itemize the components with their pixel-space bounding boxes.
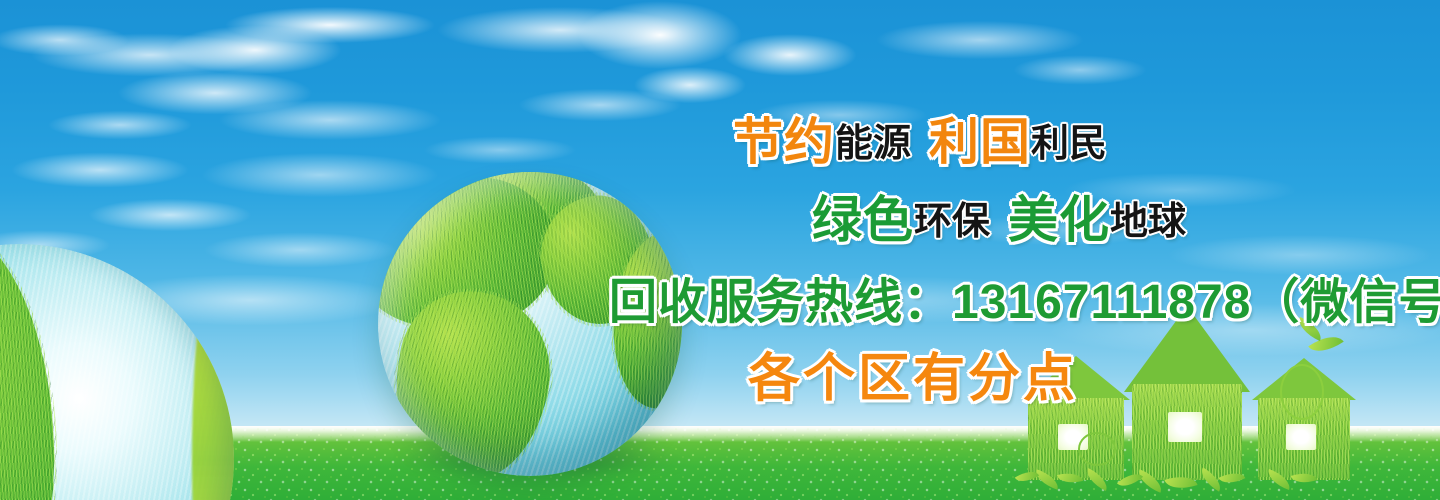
vine-icon (1280, 364, 1324, 420)
headline-l1-seg-4: 利民 (1031, 112, 1107, 167)
headline-line-1: 节约能源利国利民 (733, 102, 1107, 174)
vine-icon (1078, 432, 1116, 466)
headline-l2-seg-3: 美化 (1008, 180, 1110, 252)
headline-l1-seg-2: 能源 (835, 112, 911, 167)
headline-line-2: 绿色环保美化地球 (812, 180, 1186, 252)
recycling-hotline[interactable]: 回收服务热线：13167111878（微信号） (609, 262, 1440, 332)
eco-recycling-banner: 节约能源利国利民 绿色环保美化地球 回收服务热线：13167111878（微信号… (0, 0, 1440, 500)
house-window (1286, 424, 1316, 450)
headline-l2-seg-1: 绿色 (812, 180, 914, 252)
grass-house-center (1132, 306, 1242, 480)
house-window (1168, 412, 1202, 442)
grass-house-right (1258, 358, 1350, 480)
headline-l1-seg-1: 节约 (733, 102, 835, 174)
headline-l1-seg-3: 利国 (929, 102, 1031, 174)
branch-note: 各个区有分点 (748, 336, 1078, 411)
headline-l2-seg-4: 地球 (1110, 190, 1186, 245)
headline-l2-seg-2: 环保 (914, 190, 990, 245)
